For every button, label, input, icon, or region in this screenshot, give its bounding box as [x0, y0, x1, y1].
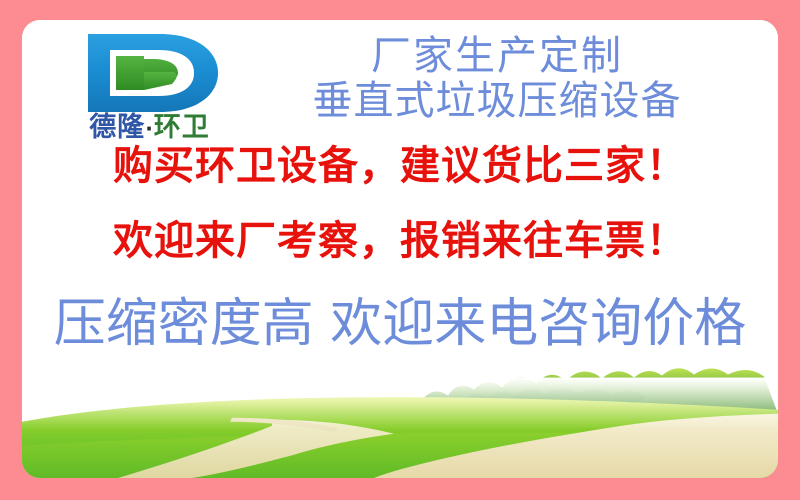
logo-word-secondary: 环卫 [154, 112, 210, 143]
slogan-line-1: 购买环卫设备，建议货比三家！ [22, 146, 778, 186]
tagline: 压缩密度高 欢迎来电咨询价格 [22, 298, 778, 350]
logo-word-primary: 德隆 [89, 112, 145, 143]
slogan-line-2: 欢迎来厂考察，报销来往车票！ [22, 221, 778, 261]
dl-monogram-icon [82, 32, 222, 114]
content-layer: 德隆·环卫 厂家生产定制 垂直式垃圾压缩设备 购买环卫设备，建议货比三家！ 欢迎… [22, 20, 778, 478]
banner-inner-panel: 德隆·环卫 厂家生产定制 垂直式垃圾压缩设备 购买环卫设备，建议货比三家！ 欢迎… [22, 20, 778, 478]
company-logo[interactable]: 德隆·环卫 [52, 30, 247, 150]
logo-wordmark: 德隆·环卫 [52, 114, 247, 141]
headline-line-2: 垂直式垃圾压缩设备 [237, 79, 757, 124]
advertisement-banner: 德隆·环卫 厂家生产定制 垂直式垃圾压缩设备 购买环卫设备，建议货比三家！ 欢迎… [0, 0, 800, 500]
logo-separator: · [145, 117, 154, 141]
headline: 厂家生产定制 垂直式垃圾压缩设备 [237, 34, 757, 124]
headline-line-1: 厂家生产定制 [237, 34, 757, 79]
